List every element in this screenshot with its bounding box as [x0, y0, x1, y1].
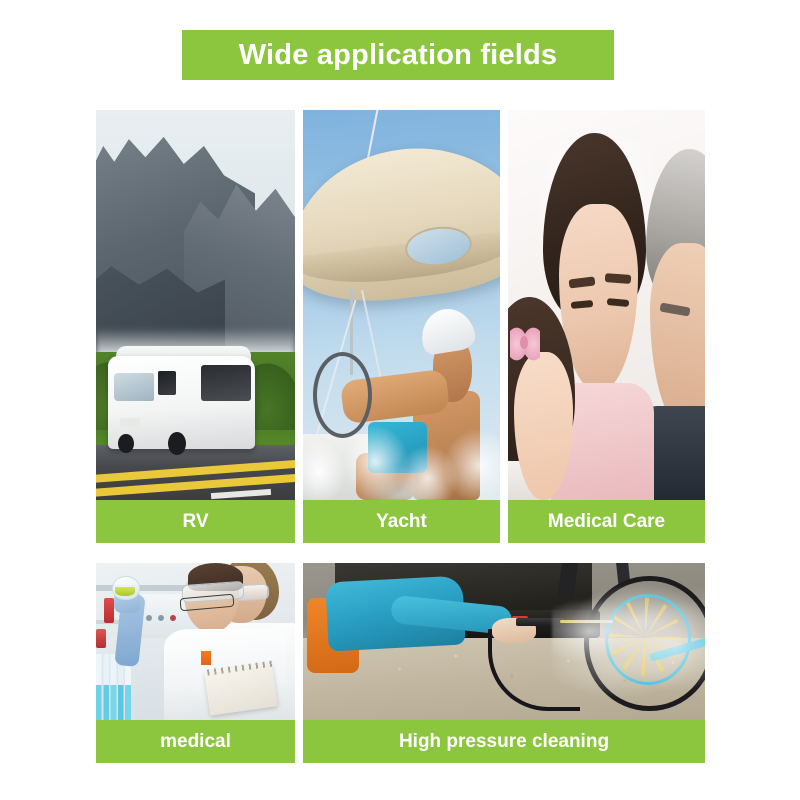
application-fields-page: Wide application fields: [0, 0, 800, 800]
card-label-bar-high-pressure-cleaning: High pressure cleaning: [303, 720, 705, 763]
card-label-bar-rv: RV: [96, 500, 295, 543]
card-label-bar-yacht: Yacht: [303, 500, 500, 543]
application-card-medical-care[interactable]: Medical Care: [508, 110, 705, 543]
application-card-high-pressure-cleaning[interactable]: GN64 UYR High pressure cleaning: [303, 563, 705, 763]
application-card-rv[interactable]: RV: [96, 110, 295, 543]
card-label-rv: RV: [182, 512, 208, 531]
page-title: Wide application fields: [239, 41, 558, 70]
card-label-high-pressure-cleaning: High pressure cleaning: [399, 732, 609, 751]
card-label-medical: medical: [160, 732, 231, 751]
card-label-medical-care: Medical Care: [548, 512, 665, 531]
page-title-banner: Wide application fields: [182, 30, 614, 80]
card-label-bar-medical: medical: [96, 720, 295, 763]
application-card-medical[interactable]: medical: [96, 563, 295, 763]
rv-photo: [96, 110, 295, 500]
card-label-bar-medical-care: Medical Care: [508, 500, 705, 543]
card-label-yacht: Yacht: [376, 512, 427, 531]
yacht-photo: [303, 110, 500, 500]
high-pressure-cleaning-photo: GN64 UYR: [303, 563, 705, 720]
medical-care-photo: [508, 110, 705, 500]
application-card-yacht[interactable]: Yacht: [303, 110, 500, 543]
medical-lab-photo: [96, 563, 295, 720]
